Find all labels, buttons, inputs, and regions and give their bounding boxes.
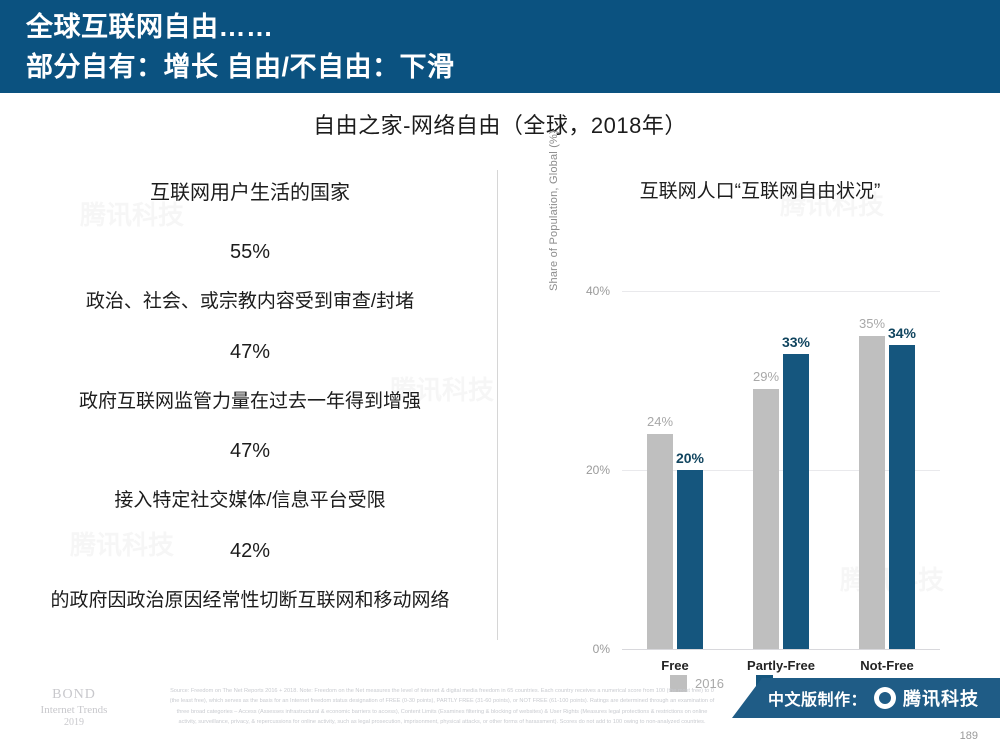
plot-wrapper: Share of Population, Global (%) 0%20%40%… [510, 231, 990, 661]
bond-logo-subtitle: Internet Trends [26, 704, 122, 718]
gridline: 40% [622, 291, 940, 292]
gridline: 0% [622, 649, 940, 650]
chart-title: 互联网人口“互联网自由状况” [510, 176, 990, 203]
page-number: 189 [960, 730, 978, 742]
tencent-logo-icon [874, 687, 896, 709]
source-note-line: (the least free), which serves as the ba… [112, 696, 772, 706]
stat-block: 47%接入特定社交媒体/信息平台受限 [20, 440, 480, 514]
chart-panel: 互联网人口“互联网自由状况” Share of Population, Glob… [510, 176, 990, 656]
header-title-line-1: 全球互联网自由…… [26, 7, 1000, 47]
stat-list: 55%政治、社会、或宗教内容受到审查/封堵47%政府互联网监管力量在过去一年得到… [20, 241, 480, 614]
bar-partly-free-2016 [753, 389, 779, 649]
x-axis-tick-label: Not-Free [860, 658, 913, 673]
stat-description: 政府互联网监管力量在过去一年得到增强 [20, 390, 480, 415]
bar-value-label: 35% [859, 316, 885, 331]
y-axis-tick-label: 0% [593, 642, 610, 656]
left-panel-heading: 互联网用户生活的国家 [20, 176, 480, 205]
bar-partly-free-2018 [783, 354, 809, 649]
stat-block: 42%的政府因政治原因经常性切断互联网和移动网络 [20, 540, 480, 614]
bar-value-label: 24% [647, 414, 673, 429]
panel-divider [497, 170, 498, 640]
bar-value-label: 20% [676, 450, 704, 466]
stat-value: 42% [20, 540, 480, 563]
tencent-banner-label: 中文版制作： [768, 686, 867, 710]
x-axis-tick-label: Free [661, 658, 688, 673]
stat-block: 47%政府互联网监管力量在过去一年得到增强 [20, 341, 480, 415]
bar-not-free-2018 [889, 345, 915, 649]
bar-value-label: 34% [888, 325, 916, 341]
source-note-line: Source: Freedom on The Net Reports 2016 … [112, 686, 772, 696]
header-band: 全球互联网自由…… 部分自有：增长 自由/不自由：下滑 [0, 0, 1000, 93]
stat-value: 47% [20, 440, 480, 463]
source-note-line: three broad categories – Access (Assesse… [112, 707, 772, 717]
bar-value-label: 29% [753, 369, 779, 384]
bar-free-2016 [647, 434, 673, 649]
stat-description: 的政府因政治原因经常性切断互联网和移动网络 [20, 589, 480, 614]
x-axis-tick-label: Partly-Free [747, 658, 815, 673]
stat-description: 政治、社会、或宗教内容受到审查/封堵 [20, 290, 480, 315]
y-axis-title: Share of Population, Global (%) [548, 0, 562, 291]
tencent-banner: 中文版制作： 腾讯科技 [732, 678, 1000, 718]
bar-value-label: 33% [782, 334, 810, 350]
stat-block: 55%政治、社会、或宗教内容受到审查/封堵 [20, 241, 480, 315]
left-stats-panel: 互联网用户生活的国家 55%政治、社会、或宗教内容受到审查/封堵47%政府互联网… [20, 176, 480, 640]
y-axis-tick-label: 40% [586, 284, 610, 298]
footer: BOND Internet Trends 2019 Source: Freedo… [0, 678, 1000, 750]
header-title-line-2: 部分自有：增长 自由/不自由：下滑 [26, 47, 1000, 87]
bond-logo-name: BOND [26, 686, 122, 704]
stat-value: 55% [20, 241, 480, 264]
source-note-line: activity, surveillance, privacy, & reper… [112, 717, 772, 727]
stat-value: 47% [20, 341, 480, 364]
y-axis-tick-label: 20% [586, 463, 610, 477]
source-note: Source: Freedom on The Net Reports 2016 … [112, 686, 772, 727]
tencent-brand-name: 腾讯科技 [903, 685, 979, 711]
plot-area: 0%20%40%24%20%Free29%33%Partly-Free35%34… [622, 291, 940, 649]
bond-logo-year: 2019 [26, 717, 122, 730]
page-title: 自由之家-网络自由（全球，2018年） [0, 108, 1000, 140]
bar-not-free-2016 [859, 336, 885, 649]
bond-logo: BOND Internet Trends 2019 [26, 686, 122, 730]
bar-free-2018 [677, 470, 703, 649]
stat-description: 接入特定社交媒体/信息平台受限 [20, 489, 480, 514]
